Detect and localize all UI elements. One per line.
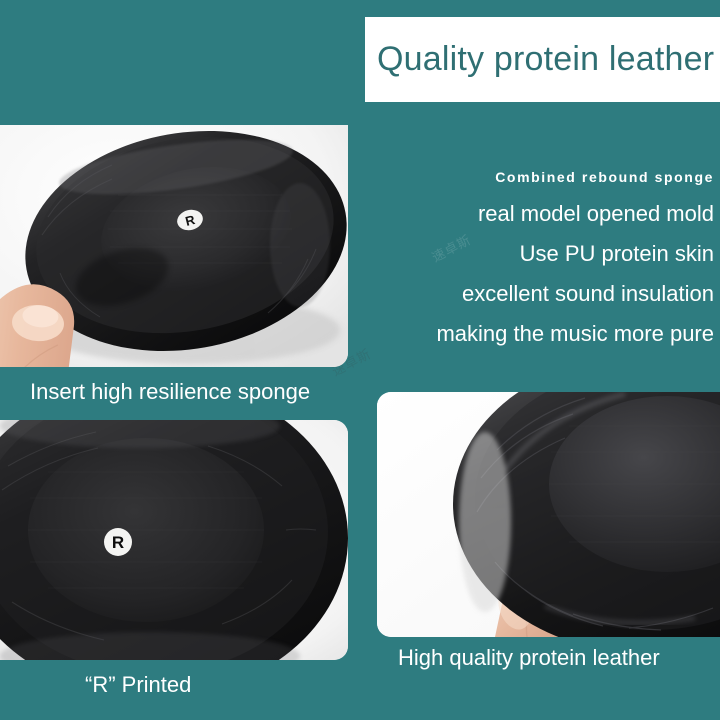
ear-pad-press-photo: R	[0, 125, 348, 367]
feature-item-4: making the music more pure	[355, 314, 714, 354]
svg-text:R: R	[112, 533, 124, 552]
feature-item-1: real model opened mold	[355, 194, 714, 234]
protein-leather-closeup-photo	[377, 392, 720, 637]
ear-pad-r-photo: R	[0, 420, 348, 660]
r-marker-icon: R	[104, 528, 132, 556]
feature-list: Combined rebound sponge real model opene…	[355, 160, 720, 354]
photo-panel-r-printed: R	[0, 420, 348, 660]
feature-heading: Combined rebound sponge	[355, 160, 714, 194]
title-banner: Quality protein leather	[365, 17, 720, 102]
feature-item-3: excellent sound insulation	[355, 274, 714, 314]
photo-panel-insert-sponge: R	[0, 125, 348, 367]
caption-protein-leather: High quality protein leather	[398, 645, 660, 671]
page-title: Quality protein leather	[365, 40, 714, 79]
photo-panel-protein-leather	[377, 392, 720, 637]
feature-item-2: Use PU protein skin	[355, 234, 714, 274]
product-feature-graphic: Quality protein leather Combined rebound…	[0, 0, 720, 720]
caption-r-printed: “R” Printed	[85, 672, 191, 698]
caption-insert-sponge: Insert high resilience sponge	[30, 379, 310, 405]
